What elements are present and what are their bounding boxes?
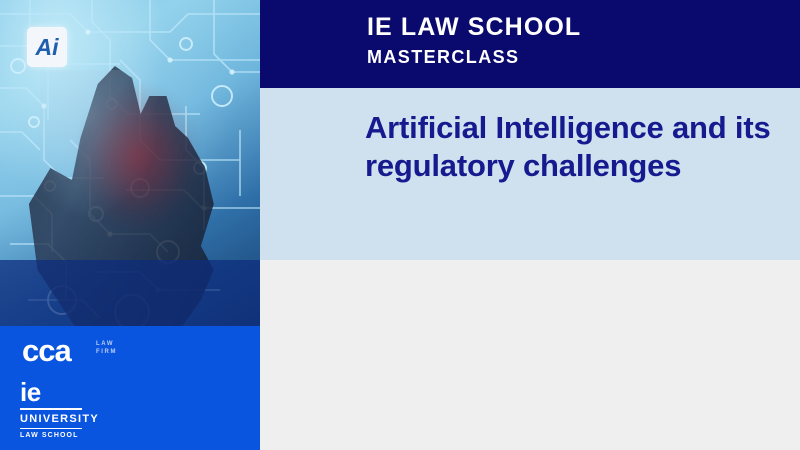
header-text-group: IE LAW SCHOOL MASTERCLASS — [367, 12, 581, 69]
brand-subtitle: MASTERCLASS — [367, 45, 581, 69]
ie-law-school-label: LAW SCHOOL — [20, 431, 140, 441]
ie-wordmark: ie — [20, 379, 140, 405]
ai-chip-icon: Ai — [27, 27, 67, 67]
image-overlay-band — [0, 260, 260, 326]
left-column: Ai cca LAW FIRM ie UNIVERSITY LAW SCHOOL — [0, 0, 260, 450]
ai-chip-label: Ai — [36, 36, 59, 59]
cca-tagline-line1: LAW — [96, 340, 117, 348]
page-title: Artificial Intelligence and its regulato… — [365, 109, 785, 185]
ie-logo-rule-bottom — [20, 428, 82, 429]
cca-tagline-line2: FIRM — [96, 348, 117, 356]
ie-university-label: UNIVERSITY — [20, 412, 140, 426]
red-glow-accent — [78, 85, 198, 228]
hero-image: Ai — [0, 0, 260, 326]
title-panel: Artificial Intelligence and its regulato… — [260, 88, 800, 260]
brand-title: IE LAW SCHOOL — [367, 12, 581, 42]
ie-university-logo: ie UNIVERSITY LAW SCHOOL — [20, 379, 140, 441]
cca-tagline: LAW FIRM — [96, 340, 117, 356]
header-band: IE LAW SCHOOL MASTERCLASS — [260, 0, 800, 88]
cca-wordmark: cca — [22, 334, 152, 368]
slide-canvas: IE LAW SCHOOL MASTERCLASS Artificial Int… — [0, 0, 800, 450]
ie-logo-rule-top — [20, 408, 82, 410]
cca-logo: cca LAW FIRM — [22, 334, 152, 368]
